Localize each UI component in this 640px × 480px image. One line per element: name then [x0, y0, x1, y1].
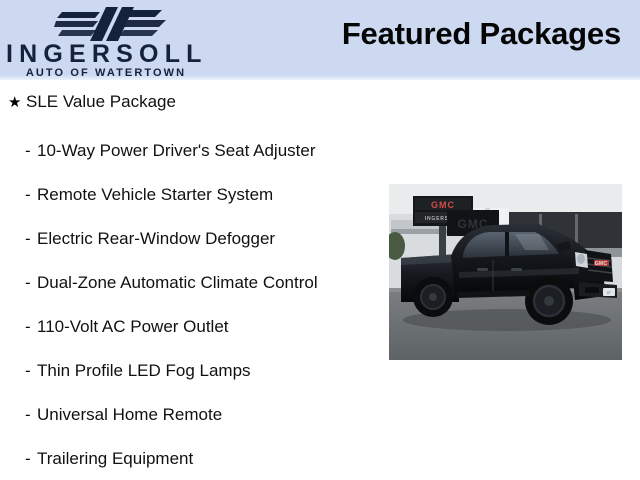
- list-item-label: Thin Profile LED Fog Lamps: [37, 361, 251, 380]
- dash-glyph: -: [25, 318, 37, 335]
- dash-glyph: -: [25, 450, 37, 467]
- dash-glyph: -: [25, 142, 37, 159]
- list-item-label: Universal Home Remote: [37, 405, 222, 424]
- list-item-label: 110-Volt AC Power Outlet: [37, 317, 229, 336]
- list-item: -Universal Home Remote: [25, 406, 222, 423]
- dash-glyph: -: [25, 186, 37, 203]
- dealer-logo: INGERSOLL AUTO OF WATERTOWN: [6, 4, 206, 78]
- star-icon: ★: [8, 95, 26, 110]
- dash-glyph: -: [25, 274, 37, 291]
- dash-glyph: -: [25, 406, 37, 423]
- list-item-label: Dual-Zone Automatic Climate Control: [37, 273, 318, 292]
- list-item: -Remote Vehicle Starter System: [25, 186, 273, 203]
- package-heading-label: SLE Value Package: [26, 92, 176, 111]
- dash-glyph: -: [25, 230, 37, 247]
- list-item: -110-Volt AC Power Outlet: [25, 318, 229, 335]
- dealer-subwordmark: AUTO OF WATERTOWN: [6, 68, 206, 79]
- list-item-label: 10-Way Power Driver's Seat Adjuster: [37, 141, 316, 160]
- dealer-wordmark: INGERSOLL: [6, 42, 206, 67]
- list-item-label: Trailering Equipment: [37, 449, 193, 468]
- list-item-label: Remote Vehicle Starter System: [37, 185, 273, 204]
- svg-text:GMC: GMC: [595, 261, 608, 267]
- featured-packages-page: INGERSOLL AUTO OF WATERTOWN Featured Pac…: [0, 0, 640, 480]
- ingersoll-winged-emblem-icon: [54, 6, 166, 42]
- list-item: -10-Way Power Driver's Seat Adjuster: [25, 142, 316, 159]
- package-heading: ★SLE Value Package: [8, 93, 176, 110]
- page-title: Featured Packages: [342, 17, 621, 51]
- list-item: -Electric Rear-Window Defogger: [25, 230, 275, 247]
- svg-text:IF: IF: [607, 290, 611, 295]
- list-item: -Trailering Equipment: [25, 450, 193, 467]
- dash-glyph: -: [25, 362, 37, 379]
- list-item: -Thin Profile LED Fog Lamps: [25, 362, 251, 379]
- svg-text:GMC: GMC: [431, 200, 455, 210]
- list-item-label: Electric Rear-Window Defogger: [37, 229, 275, 248]
- gmc-sierra-black-pickup-photo: GMC INGERSOLL GMC: [389, 184, 622, 360]
- list-item: -Dual-Zone Automatic Climate Control: [25, 274, 318, 291]
